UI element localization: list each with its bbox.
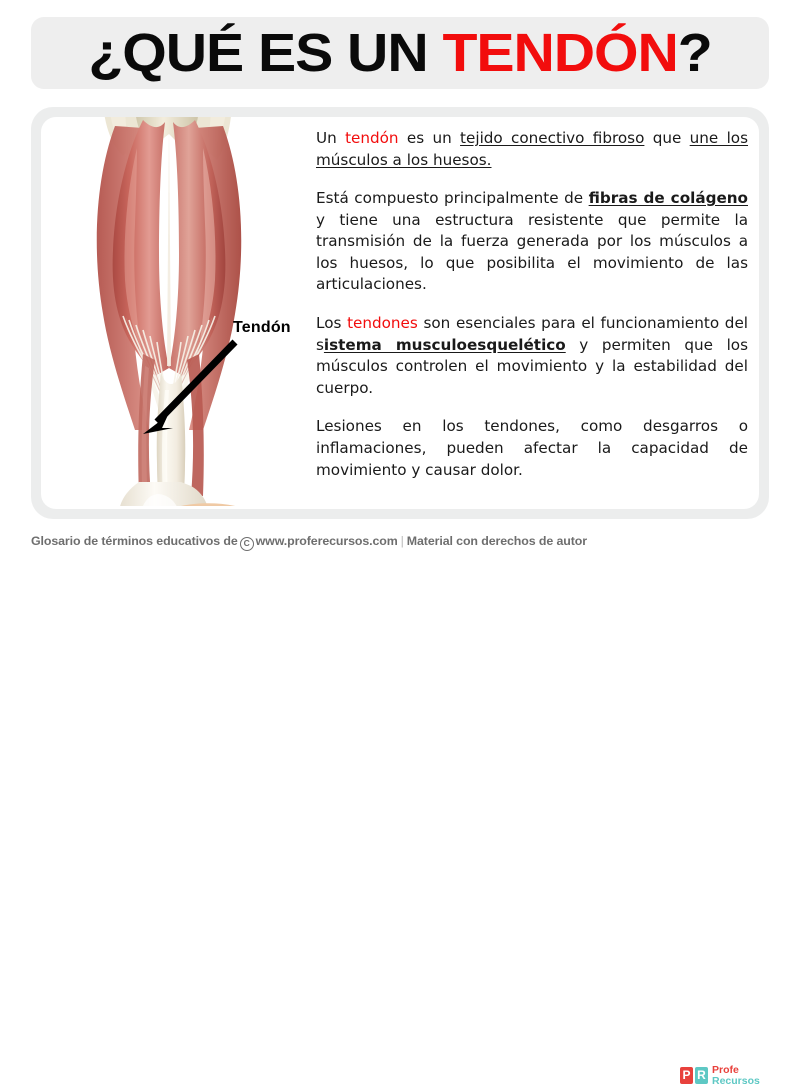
logo-wordmark: Profe Recursos bbox=[712, 1065, 760, 1086]
footer-bar: Glosario de términos educativos deCwww.p… bbox=[0, 528, 800, 566]
tendon-callout-label: Tendón bbox=[233, 319, 291, 337]
logo-tiles: P R bbox=[680, 1067, 708, 1084]
p2-underline-colageno: fibras de colágeno bbox=[589, 189, 748, 207]
p3-seg1: Los bbox=[316, 314, 347, 332]
p1-seg3: que bbox=[644, 129, 689, 147]
p2-seg2: y tiene una estructura resistente que pe… bbox=[316, 211, 748, 294]
logo-word-recursos: Recursos bbox=[712, 1076, 760, 1087]
paragraph-3: Los tendones son esenciales para el func… bbox=[316, 313, 748, 399]
page-title-highlight: TENDÓN bbox=[442, 23, 677, 83]
proferecursos-logo[interactable]: P R Profe Recursos bbox=[680, 1062, 776, 1089]
p3-underline-sistema: istema musculoesquelético bbox=[324, 336, 566, 354]
p1-seg2: es un bbox=[399, 129, 460, 147]
p1-keyword-tendon: tendón bbox=[345, 129, 398, 147]
header-banner: ¿QUÉ ES UN TENDÓN? bbox=[31, 17, 769, 89]
paragraph-2: Está compuesto principalmente de fibras … bbox=[316, 188, 748, 296]
logo-tile-p: P bbox=[680, 1067, 693, 1084]
p2-seg1: Está compuesto principalmente de bbox=[316, 189, 589, 207]
footer-credit-prefix: Glosario de términos educativos de bbox=[31, 534, 238, 548]
p1-underline-tejido: tejido conectivo fibroso bbox=[460, 129, 644, 147]
copyright-icon: C bbox=[240, 537, 254, 551]
paragraph-1: Un tendón es un tejido conectivo fibroso… bbox=[316, 128, 748, 171]
p1-seg1: Un bbox=[316, 129, 345, 147]
paragraph-4: Lesiones en los tendones, como desgarros… bbox=[316, 416, 748, 481]
page-title: ¿QUÉ ES UN TENDÓN? bbox=[88, 26, 711, 80]
article-body: Un tendón es un tejido conectivo fibroso… bbox=[316, 128, 748, 481]
footer-site-url[interactable]: www.proferecursos.com bbox=[256, 534, 398, 548]
p3-keyword-tendones: tendones bbox=[347, 314, 418, 332]
logo-word-profe: Profe bbox=[712, 1065, 760, 1076]
p4-seg1: Lesiones en los tendones, como desgarros… bbox=[316, 417, 748, 478]
footer-separator: | bbox=[398, 534, 407, 548]
page-title-part-2: ? bbox=[678, 23, 712, 83]
logo-tile-r: R bbox=[695, 1067, 708, 1084]
footer-rights: Material con derechos de autor bbox=[407, 534, 587, 548]
footer-credit: Glosario de términos educativos deCwww.p… bbox=[31, 534, 587, 551]
page-title-part-1: ¿QUÉ ES UN bbox=[88, 23, 442, 83]
